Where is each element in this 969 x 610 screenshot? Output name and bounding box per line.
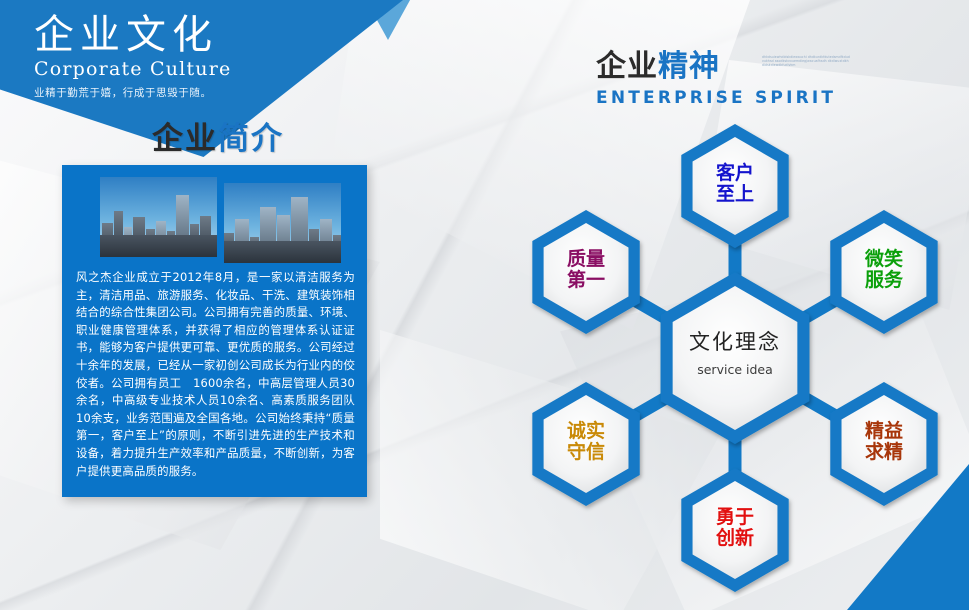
spirit-heading-group: 企业精神 ENTERPRISE SPIRIT dhkdsuiewhdidskdi… [596,52,896,108]
culture-hexagon-diagram: 文化理念 service idea 客户 至上微笑 服务精益 求精勇于 创新诚实… [500,120,969,598]
city-skyline-photo [100,177,217,257]
section-title-dark: 企业 [152,121,218,157]
hub-label-en: service idea [655,362,815,377]
skyscrapers-photo [224,183,341,263]
spirit-title-dark: 企业 [596,49,658,84]
banner-title-cn: 企业文化 [34,14,364,56]
hub-label-group: 文化理念 service idea [655,326,815,377]
hub-label-cn: 文化理念 [655,326,815,356]
section-title-blue: 简介 [218,121,284,157]
company-intro-card: 风之杰企业成立于2012年8月，是一家以清洁服务为主，清洁用品、旅游服务、化妆品… [62,165,367,497]
spirit-title-cn: 企业精神 [596,52,896,82]
banner-text-group: 企业文化 Corporate Culture 业精于勤荒于嬉，行成于思毁于随。 [34,14,364,100]
section-title: 企业简介 [152,113,284,158]
photo-strip [100,177,341,263]
poster-canvas: 企业文化 Corporate Culture 业精于勤荒于嬉，行成于思毁于随。 … [0,0,969,610]
company-intro-text: 风之杰企业成立于2012年8月，是一家以清洁服务为主，清洁用品、旅游服务、化妆品… [76,269,355,480]
spirit-title-blue: 精神 [658,49,720,84]
decorative-microtext: dhkdsuiewhdidskdiewauchi dhdkuntkfduteds… [762,55,850,81]
spirit-title-en: ENTERPRISE SPIRIT [596,88,896,108]
banner-subtitle: 业精于勤荒于嬉，行成于思毁于随。 [34,85,364,100]
banner-title-en: Corporate Culture [34,58,364,80]
